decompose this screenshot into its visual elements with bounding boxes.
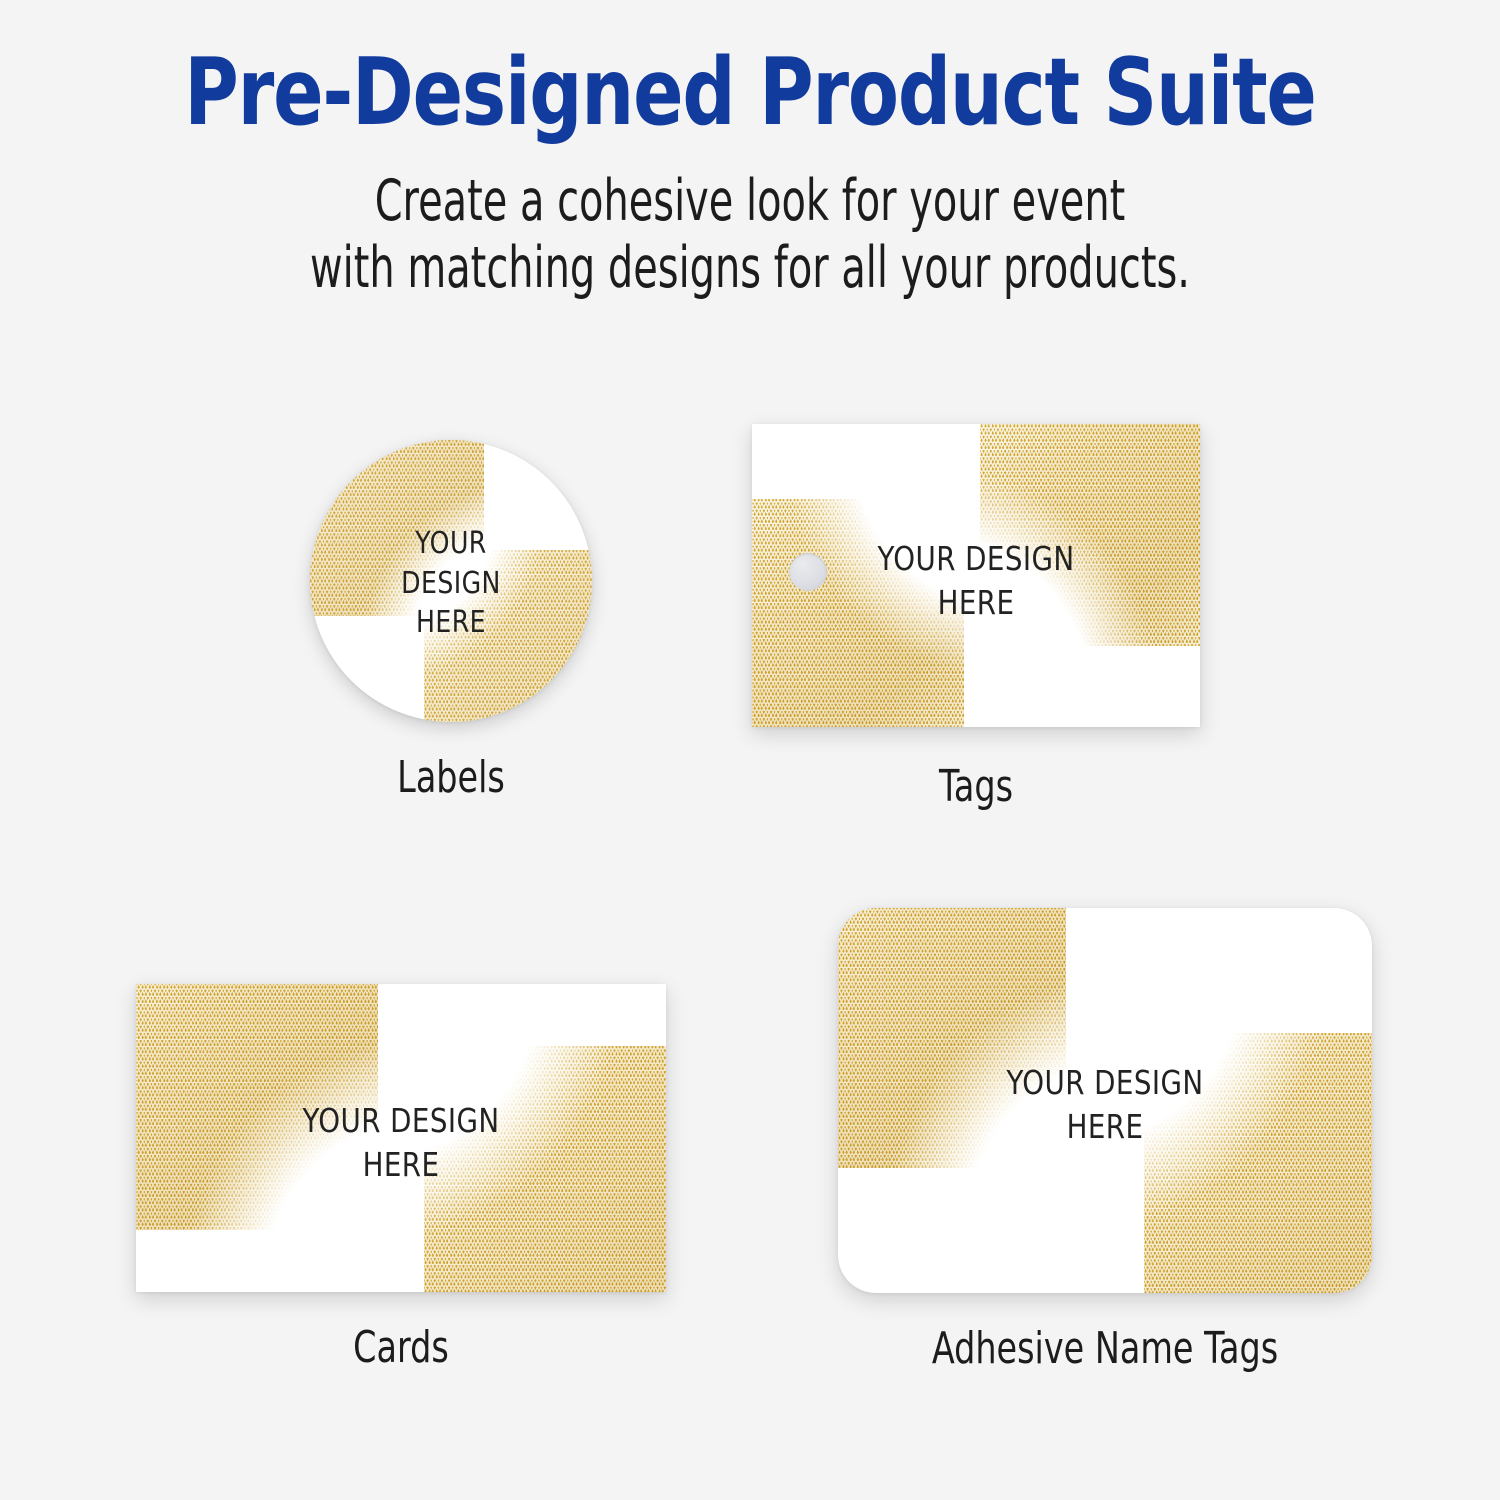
- header: Pre-Designed Product Suite Create a cohe…: [0, 0, 1500, 302]
- design-line-design: DESIGN: [333, 564, 570, 604]
- caption-tags: Tags: [806, 761, 1146, 812]
- design-line-here: HERE: [178, 1143, 623, 1187]
- nametags-design-placeholder-text: YOUR DESIGN HERE: [881, 1061, 1330, 1148]
- labels-design-placeholder-text: YOUR DESIGN HERE: [333, 524, 570, 643]
- design-line-your-design: YOUR DESIGN: [881, 1061, 1330, 1105]
- cards-design-placeholder-text: YOUR DESIGN HERE: [178, 1099, 623, 1186]
- tags-artwork[interactable]: YOUR DESIGN HERE: [752, 424, 1200, 727]
- design-line-here: HERE: [881, 1105, 1330, 1149]
- labels-artwork[interactable]: YOUR DESIGN HERE: [310, 440, 592, 722]
- nametags-artwork[interactable]: YOUR DESIGN HERE: [838, 908, 1372, 1293]
- subtitle-line-2: with matching designs for all your produ…: [225, 235, 1275, 302]
- design-line-your: YOUR: [333, 524, 570, 564]
- cards-artwork[interactable]: YOUR DESIGN HERE: [136, 984, 666, 1292]
- caption-cards: Cards: [55, 1322, 747, 1373]
- page-subtitle: Create a cohesive look for your event wi…: [225, 142, 1275, 303]
- caption-adhesive-name-tags: Adhesive Name Tags: [818, 1323, 1391, 1374]
- punch-hole-icon: [789, 553, 827, 591]
- tags-design-placeholder-text: YOUR DESIGN HERE: [788, 537, 1164, 624]
- design-line-here: HERE: [333, 603, 570, 643]
- design-line-your-design: YOUR DESIGN: [788, 537, 1164, 581]
- design-line-your-design: YOUR DESIGN: [178, 1099, 623, 1143]
- subtitle-line-1: Create a cohesive look for your event: [225, 168, 1275, 235]
- caption-labels: Labels: [339, 752, 562, 803]
- design-line-here: HERE: [788, 581, 1164, 625]
- page-title: Pre-Designed Product Suite: [150, 0, 1350, 142]
